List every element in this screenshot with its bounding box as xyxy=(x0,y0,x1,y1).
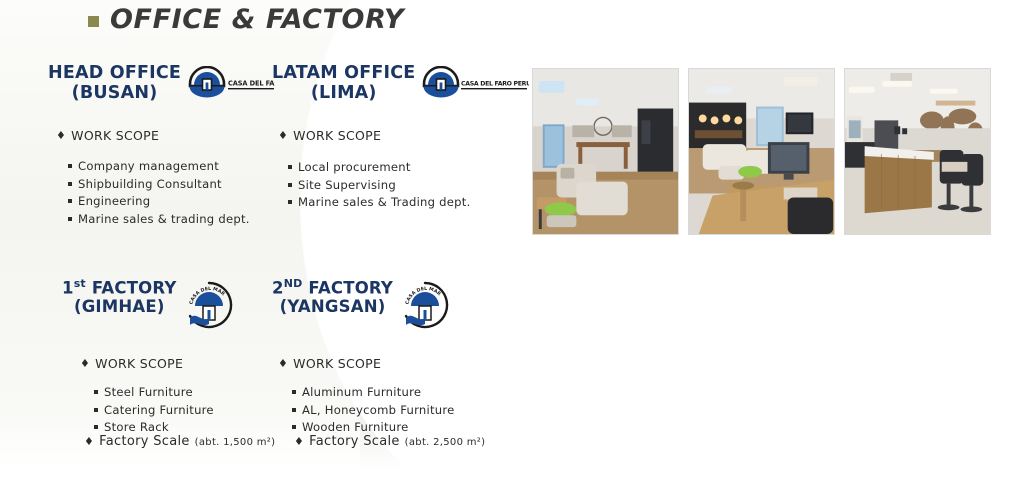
factory-2-scale-row: ♦ Factory Scale (abt. 2,500 m²) xyxy=(294,434,485,437)
diamond-icon: ♦ xyxy=(84,435,94,448)
factory-2-work-scope-label-row: ♦ WORK SCOPE xyxy=(278,356,522,371)
square-marker-icon xyxy=(288,200,292,204)
list-item: Local procurement xyxy=(288,159,522,177)
factory-1-title-sup: st xyxy=(74,277,86,290)
factory-2-title-rest: FACTORY xyxy=(302,279,393,298)
factory-2-scale-value: (abt. 2,500 m²) xyxy=(405,437,486,448)
list-item: Shipbuilding Consultant xyxy=(68,176,298,194)
list-item: Engineering xyxy=(68,193,298,211)
factory-2-title-number: 2 xyxy=(272,279,284,298)
factory-1-scale-label: Factory Scale xyxy=(99,434,190,449)
factory-2-title: 2ND FACTORY (YANGSAN) xyxy=(272,278,393,317)
latam-office-header: LATAM OFFICE (LIMA) CASA DEL FARO PERU S… xyxy=(272,64,522,104)
square-marker-icon xyxy=(288,165,292,169)
photo-gallery xyxy=(532,68,991,235)
list-item-label: Engineering xyxy=(78,193,150,211)
diamond-icon: ♦ xyxy=(278,357,288,370)
list-item-label: Site Supervising xyxy=(298,177,396,195)
list-item-label: Shipbuilding Consultant xyxy=(78,176,222,194)
list-item-label: AL, Honeycomb Furniture xyxy=(302,402,455,420)
latam-office-title-line1: LATAM OFFICE xyxy=(272,63,415,83)
head-office-header: HEAD OFFICE (BUSAN) CASA DEL FARO xyxy=(48,64,298,104)
head-office-title-line2: (BUSAN) xyxy=(48,84,181,104)
square-marker-icon xyxy=(94,425,98,429)
casa-del-faro-peru-logo: CASA DEL FARO PERU S.A.C. xyxy=(421,66,529,104)
list-item: Aluminum Furniture xyxy=(292,384,522,402)
list-item-label: Marine sales & trading dept. xyxy=(78,211,250,229)
head-office-work-scope-label-row: ♦ WORK SCOPE xyxy=(56,128,298,143)
latam-office-work-scope-label: WORK SCOPE xyxy=(293,128,381,143)
list-item-label: Steel Furniture xyxy=(104,384,193,402)
svg-text:CASA DEL FARO: CASA DEL FARO xyxy=(228,80,275,88)
latam-office-work-scope-label-row: ♦ WORK SCOPE xyxy=(278,128,522,143)
slide-title-row: OFFICE & FACTORY xyxy=(88,4,404,35)
head-office-item-list: Company management Shipbuilding Consulta… xyxy=(68,158,298,229)
factory-1-scale-value: (abt. 1,500 m²) xyxy=(195,437,276,448)
list-item-label: Company management xyxy=(78,158,219,176)
list-item: Company management xyxy=(68,158,298,176)
diamond-icon: ♦ xyxy=(278,129,288,142)
factory-1-title: 1st FACTORY (GIMHAE) xyxy=(62,278,177,317)
factory-2-item-list: Aluminum Furniture AL, Honeycomb Furnitu… xyxy=(292,384,522,437)
factory-1-title-rest: FACTORY xyxy=(86,279,177,298)
square-marker-icon xyxy=(68,199,72,203)
square-marker-icon xyxy=(292,408,296,412)
casa-del-mar-logo: CASA DEL MAR xyxy=(399,280,451,334)
square-marker-icon xyxy=(94,390,98,394)
square-marker-icon xyxy=(68,182,72,186)
latam-office-title-line2: (LIMA) xyxy=(272,84,415,104)
reception-desk-photo xyxy=(844,68,991,235)
head-office-title: HEAD OFFICE (BUSAN) xyxy=(48,64,181,104)
square-marker-icon xyxy=(68,164,72,168)
page-title: OFFICE & FACTORY xyxy=(110,4,404,35)
list-item: Marine sales & trading dept. xyxy=(68,211,298,229)
square-marker-icon xyxy=(94,408,98,412)
list-item-label: Aluminum Furniture xyxy=(302,384,421,402)
latam-office-item-list: Local procurement Site Supervising Marin… xyxy=(288,159,522,212)
svg-text:CASA DEL FARO PERU S.A.C.: CASA DEL FARO PERU S.A.C. xyxy=(461,81,529,88)
head-office-work-scope-label: WORK SCOPE xyxy=(71,128,159,143)
factory-1-scale-row: ♦ Factory Scale (abt. 1,500 m²) xyxy=(84,434,275,437)
list-item: Site Supervising xyxy=(288,177,522,195)
square-marker-icon xyxy=(288,183,292,187)
factory-2-block: 2ND FACTORY (YANGSAN) CASA DEL MAR ♦ xyxy=(272,278,522,437)
factory-1-work-scope-label: WORK SCOPE xyxy=(95,356,183,371)
list-item: AL, Honeycomb Furniture xyxy=(292,402,522,420)
casa-del-mar-logo: CASA DEL MAR xyxy=(183,280,235,334)
square-marker-icon xyxy=(292,425,296,429)
square-marker-icon xyxy=(292,390,296,394)
latam-office-title: LATAM OFFICE (LIMA) xyxy=(272,64,415,104)
diamond-icon: ♦ xyxy=(80,357,90,370)
factory-1-title-line2: (GIMHAE) xyxy=(62,298,177,317)
list-item-label: Marine sales & Trading dept. xyxy=(298,194,471,212)
square-bullet-icon xyxy=(88,16,99,27)
list-item: Marine sales & Trading dept. xyxy=(288,194,522,212)
diamond-icon: ♦ xyxy=(294,435,304,448)
casa-del-faro-logo: CASA DEL FARO xyxy=(187,66,275,104)
diamond-icon: ♦ xyxy=(56,129,66,142)
factory-2-header: 2ND FACTORY (YANGSAN) CASA DEL MAR xyxy=(272,278,522,334)
list-item-label: Local procurement xyxy=(298,159,411,177)
list-item-label: Catering Furniture xyxy=(104,402,214,420)
office-desk-photo xyxy=(688,68,835,235)
factory-1-title-number: 1 xyxy=(62,279,74,298)
head-office-title-line1: HEAD OFFICE xyxy=(48,63,181,83)
factory-2-work-scope-label: WORK SCOPE xyxy=(293,356,381,371)
factory-2-title-sup: ND xyxy=(284,277,303,290)
head-office-block: HEAD OFFICE (BUSAN) CASA DEL FARO ♦ WORK… xyxy=(48,64,298,229)
slide-canvas: OFFICE & FACTORY HEAD OFFICE (BUSAN) CAS… xyxy=(0,0,1024,481)
square-marker-icon xyxy=(68,217,72,221)
factory-2-scale-label: Factory Scale xyxy=(309,434,400,449)
factory-2-title-line2: (YANGSAN) xyxy=(272,298,393,317)
latam-office-block: LATAM OFFICE (LIMA) CASA DEL FARO PERU S… xyxy=(272,64,522,212)
office-lounge-photo xyxy=(532,68,679,235)
